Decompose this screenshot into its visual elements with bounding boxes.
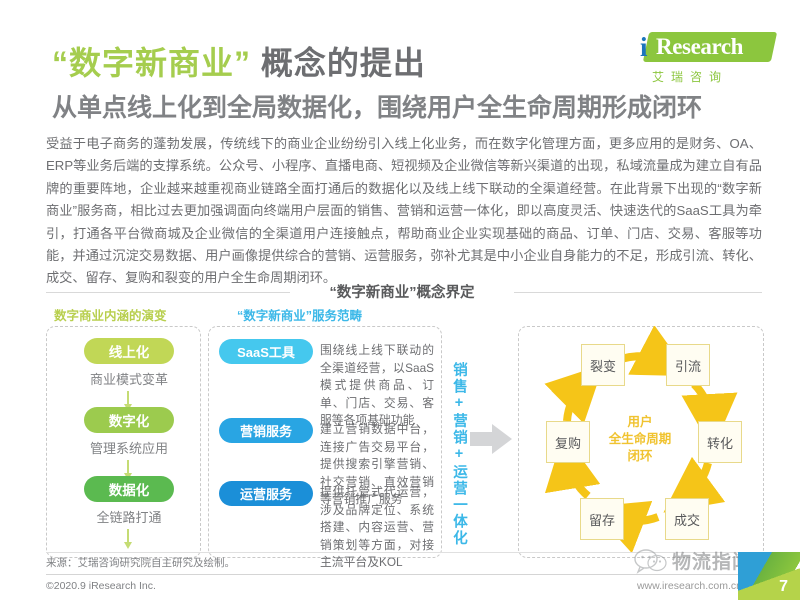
section-divider-left [46, 292, 290, 293]
flow-arrow-down-2 [127, 460, 129, 474]
corner-shape-lime [738, 552, 800, 600]
page-number: 7 [779, 578, 788, 596]
logo-wordmark: Research [656, 34, 743, 60]
logo-mark: i Research [628, 30, 778, 66]
page-corner-decoration [738, 552, 800, 600]
logo-letter-i: i [640, 33, 648, 61]
page-subtitle: 从单点线上化到全局数据化，围绕用户全生命周期形成闭环 [52, 88, 702, 124]
section-divider-right [514, 292, 762, 293]
evolution-caption-1: 商业模式变革 [54, 369, 204, 388]
body-paragraph: 受益于电子商务的蓬勃发展，传统线下的商业企业纷纷引入线上化业务，而在数字化管理方… [46, 133, 762, 290]
service-pill-operations[interactable]: 运营服务 [219, 481, 313, 506]
source-note: 来源：艾瑞咨询研究院自主研究及绘制。 [46, 555, 235, 570]
evolution-pill-2[interactable]: 数字化 [84, 407, 174, 433]
page-title-rest: 概念的提出 [251, 45, 426, 81]
copyright-text: ©2020.9 iResearch Inc. [46, 580, 156, 592]
logo-chinese-name: 艾瑞咨询 [652, 68, 728, 85]
page-title-highlight: “数字新商业” [52, 45, 251, 81]
lifecycle-node-yinliu[interactable]: 引流 [666, 344, 710, 386]
lifecycle-node-zhuanhua[interactable]: 转化 [698, 421, 742, 463]
column-label-services: “数字新商业”服务范畴 [237, 305, 362, 324]
integration-vertical-label: 销售+营销+运营一体化 [449, 362, 469, 547]
lifecycle-diagram: 裂变 引流 转化 成交 留存 复购 用户 全生命周期 闭环 [518, 326, 762, 556]
slide-page: i Research 艾瑞咨询 “数字新商业” 概念的提出 从单点线上化到全局数… [0, 0, 800, 600]
service-pill-marketing[interactable]: 营销服务 [219, 418, 313, 443]
lifecycle-node-liucun[interactable]: 留存 [580, 498, 624, 540]
evolution-pill-1[interactable]: 线上化 [84, 338, 174, 364]
right-arrow-icon [470, 422, 512, 456]
watermark: 物流指闻 [633, 547, 752, 574]
lifecycle-center-line-1: 用户 [580, 414, 700, 431]
footer-divider [46, 574, 762, 575]
website-url: www.iresearch.com.cn [637, 580, 742, 592]
iresearch-logo: i Research 艾瑞咨询 [628, 30, 778, 84]
lifecycle-center-line-3: 闭环 [580, 448, 700, 465]
flow-arrow-down-3 [127, 529, 129, 543]
lifecycle-center-line-2: 全生命周期 [580, 431, 700, 448]
lifecycle-node-chengjiao[interactable]: 成交 [665, 498, 709, 540]
evolution-caption-2: 管理系统应用 [54, 438, 204, 457]
service-pill-saas[interactable]: SaaS工具 [219, 339, 313, 364]
wechat-icon [633, 548, 667, 574]
lifecycle-node-liebian[interactable]: 裂变 [581, 344, 625, 386]
evolution-caption-3: 全链路打通 [54, 507, 204, 526]
lifecycle-center-label: 用户 全生命周期 闭环 [580, 414, 700, 465]
figure-section-title: “数字新商业”概念界定 [290, 281, 514, 302]
page-title: “数字新商业” 概念的提出 [52, 38, 426, 84]
column-label-evolution: 数字商业内涵的演变 [54, 305, 167, 324]
evolution-pill-3[interactable]: 数据化 [84, 476, 174, 502]
flow-arrow-down-1 [127, 391, 129, 405]
